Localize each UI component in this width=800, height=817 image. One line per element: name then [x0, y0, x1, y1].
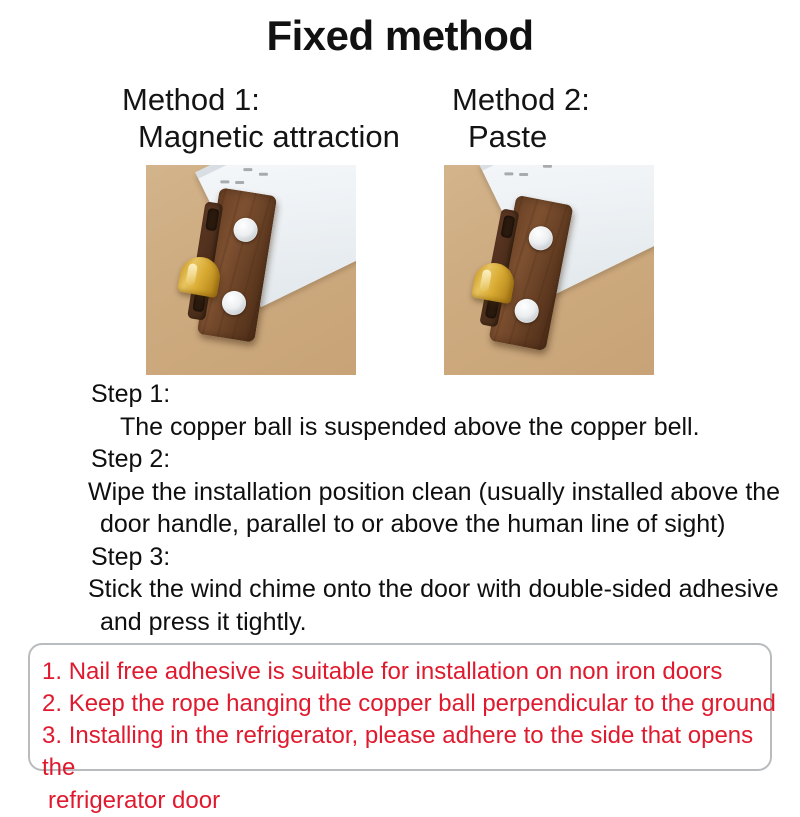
note-2-text: Keep the rope hanging the copper ball pe…: [69, 690, 776, 717]
note-item-1: 1. Nail free adhesive is suitable for in…: [42, 656, 760, 688]
warning-notes-box: 1. Nail free adhesive is suitable for in…: [28, 643, 772, 771]
bell-highlight: [185, 263, 198, 286]
method-2-heading-label: Method 2:: [452, 82, 590, 119]
step-3-text-line-2: and press it tightly.: [88, 606, 800, 639]
page-title: Fixed method: [0, 14, 800, 58]
adhesive-pad-bottom: [513, 297, 541, 325]
product-instruction-page: Fixed method Method 1: Magnetic attracti…: [0, 0, 800, 800]
method-1-heading-label: Method 1:: [122, 82, 400, 119]
book-markings: [503, 165, 574, 200]
magnet-disc-bottom: [220, 289, 247, 316]
note-1-number: 1.: [42, 658, 62, 685]
bell-highlight: [479, 269, 492, 292]
step-2-text-line-1: Wipe the installation position clean (us…: [88, 478, 780, 506]
installation-steps: Step 1: The copper ball is suspended abo…: [0, 378, 800, 638]
step-1-label: Step 1:: [0, 378, 800, 411]
step-1-text: The copper ball is suspended above the c…: [0, 411, 800, 444]
magnet-disc-top: [232, 216, 259, 243]
method-1-photo: [146, 165, 356, 375]
method-1-heading: Method 1: Magnetic attraction: [122, 82, 400, 155]
method-2-heading: Method 2: Paste: [452, 82, 590, 155]
note-2-number: 2.: [42, 690, 62, 717]
method-1-name: Magnetic attraction: [122, 119, 400, 156]
note-item-3: 3. Installing in the refrigerator, pleas…: [42, 720, 760, 816]
note-item-2: 2. Keep the rope hanging the copper ball…: [42, 688, 760, 720]
method-2-photo: [444, 165, 654, 375]
step-2-label: Step 2:: [0, 443, 800, 476]
note-3-number: 3.: [42, 722, 62, 749]
note-1-text: Nail free adhesive is suitable for insta…: [69, 658, 723, 685]
note-3-text-continuation: refrigerator door: [42, 785, 760, 817]
step-2-text-line-2: door handle, parallel to or above the hu…: [88, 508, 800, 541]
step-3-text-line-1: Stick the wind chime onto the door with …: [88, 575, 779, 603]
note-3-text: Installing in the refrigerator, please a…: [42, 722, 753, 781]
method-2-name: Paste: [452, 119, 590, 156]
step-2-text: Wipe the installation position clean (us…: [0, 476, 800, 541]
step-3-label: Step 3:: [0, 541, 800, 574]
adhesive-pad-top: [527, 224, 555, 252]
step-3-text: Stick the wind chime onto the door with …: [0, 573, 800, 638]
